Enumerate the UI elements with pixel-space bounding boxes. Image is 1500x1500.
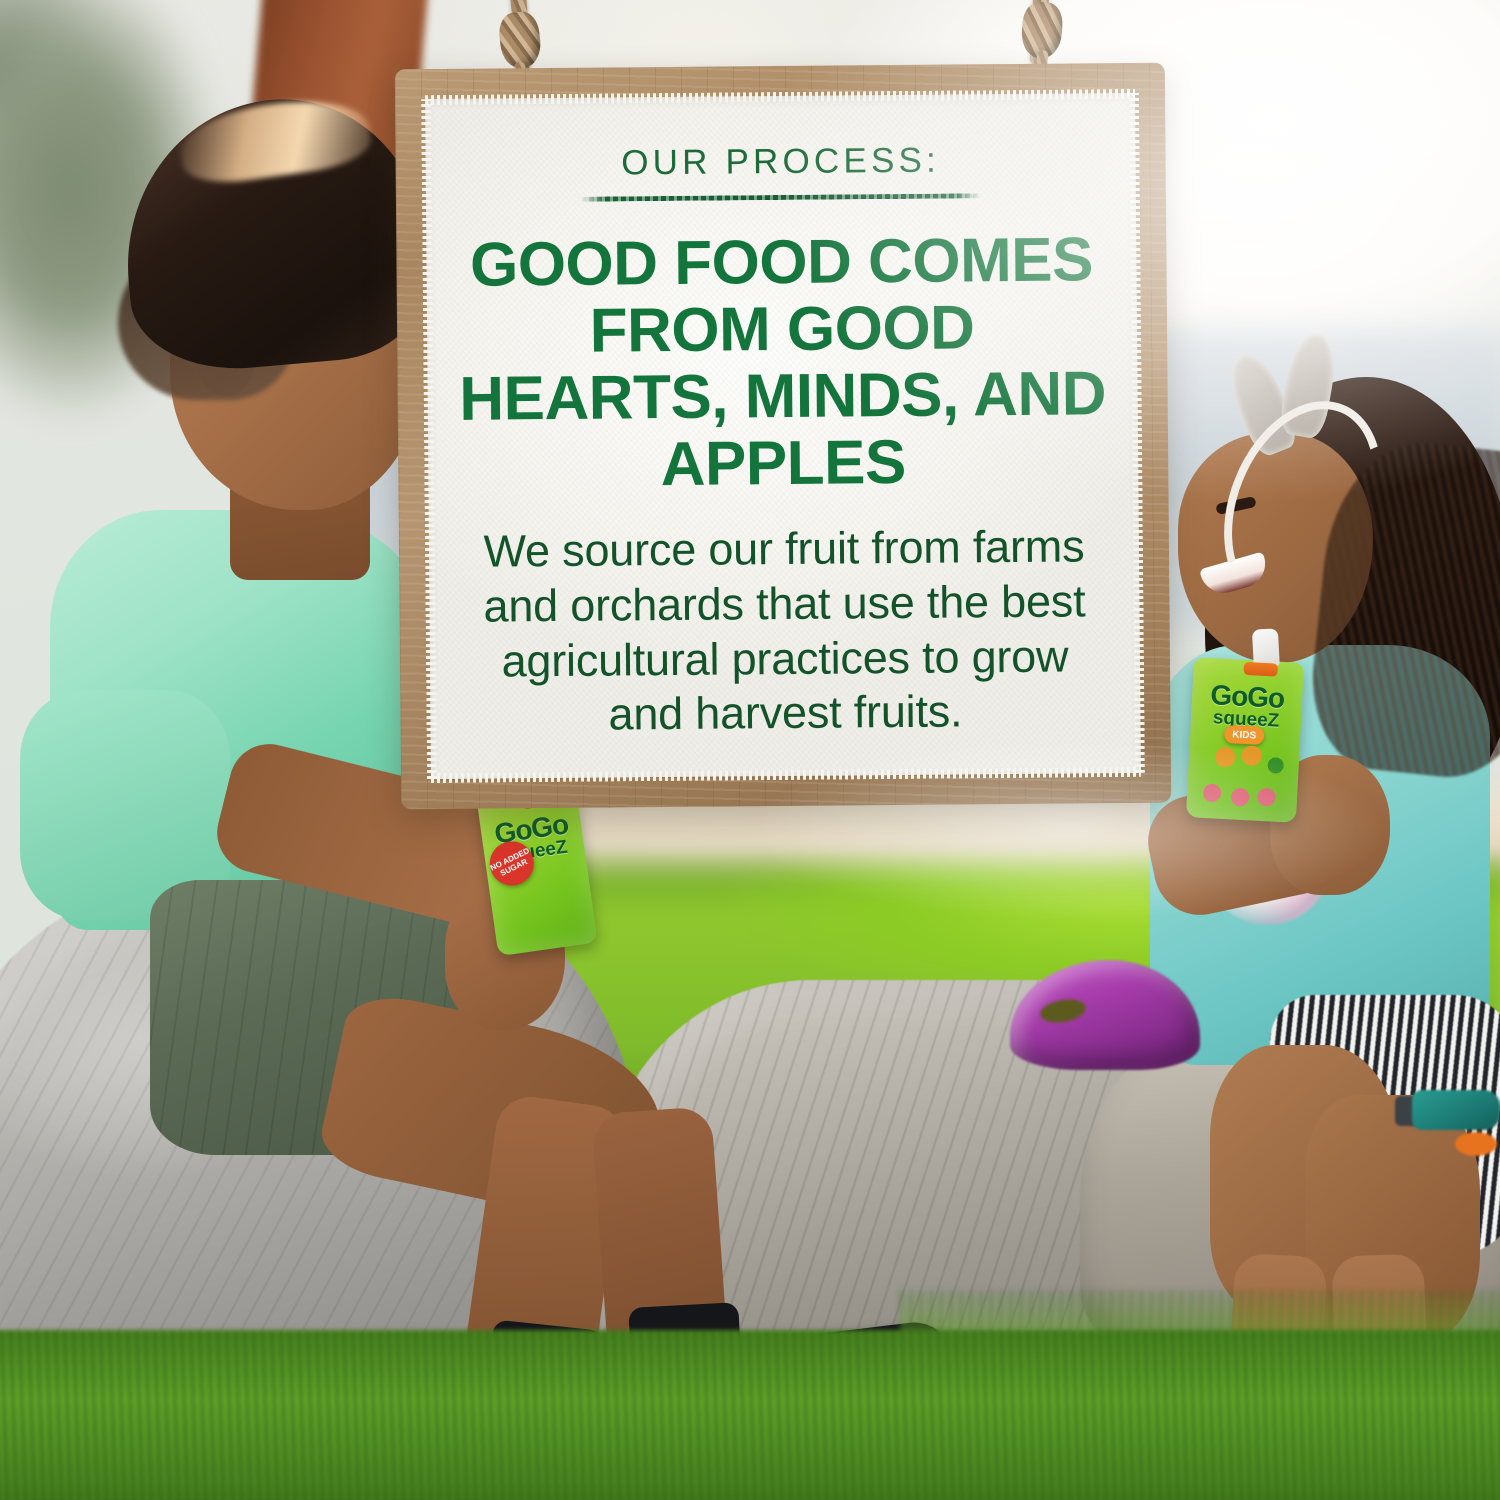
sign-divider-rule <box>581 193 981 201</box>
gogo-squeez-pouch-girl: GoGo squeeZ KIDS <box>1186 657 1304 823</box>
hose-nozzle <box>1412 1090 1500 1130</box>
hanging-wood-sign: OUR PROCESS: GOOD FOOD COMES FROM GOOD H… <box>395 63 1171 810</box>
pouch-collar <box>1243 662 1278 677</box>
pouch-brand-logo: GoGo squeeZ <box>1191 681 1303 731</box>
sign-eyebrow: OUR PROCESS: <box>455 141 1105 182</box>
sign-headline: GOOD FOOD COMES FROM GOOD HEARTS, MINDS,… <box>456 227 1108 500</box>
sign-body-copy: We source our fruit from farms and orcha… <box>459 519 1111 744</box>
promo-image-scene: GoGo squeeZ NO ADDED SUGAR GoGo squeeZ <box>0 0 1500 1500</box>
sign-divider-wrap <box>456 192 1106 203</box>
hose-nozzle-dial <box>1455 1132 1497 1156</box>
sign-text-block: OUR PROCESS: GOOD FOOD COMES FROM GOOD H… <box>455 141 1110 744</box>
pouch-kids-artwork <box>1194 738 1292 813</box>
foreground-grass <box>0 1330 1500 1500</box>
